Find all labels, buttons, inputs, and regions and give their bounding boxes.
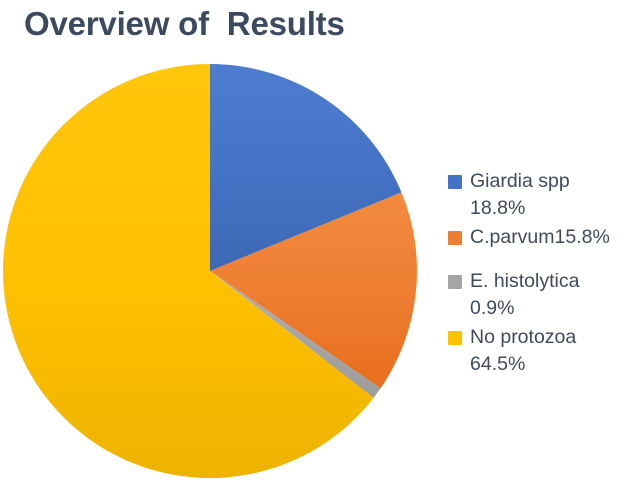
legend-item-label: No protozoa xyxy=(470,324,576,351)
legend-item[interactable]: No protozoa64.5% xyxy=(448,324,634,378)
legend-item-value: 64.5% xyxy=(470,351,634,378)
legend-item[interactable]: C.parvum15.8% xyxy=(448,224,634,251)
legend-item-label: Giardia spp xyxy=(470,168,570,195)
legend-color-swatch-icon xyxy=(448,331,462,345)
legend-item[interactable]: Giardia spp18.8% xyxy=(448,168,634,222)
pie-chart-figure: Overview of Results xyxy=(0,0,634,485)
legend-item-row: No protozoa xyxy=(448,324,634,351)
legend-item-value: 0.9% xyxy=(470,295,634,322)
legend-color-swatch-icon xyxy=(448,175,462,189)
legend-item-value: 18.8% xyxy=(470,195,634,222)
legend-item-row: C.parvum15.8% xyxy=(448,224,634,251)
legend-item-row: Giardia spp xyxy=(448,168,634,195)
legend-color-swatch-icon xyxy=(448,231,462,245)
legend-item-row: E. histolytica xyxy=(448,268,634,295)
legend-color-swatch-icon xyxy=(448,275,462,289)
pie-chart-graphic xyxy=(0,0,440,485)
chart-legend: Giardia spp18.8%C.parvum15.8%E. histolyt… xyxy=(448,168,634,380)
legend-item-label: C.parvum15.8% xyxy=(470,224,610,251)
legend-item[interactable]: E. histolytica0.9% xyxy=(448,268,634,322)
legend-item-label: E. histolytica xyxy=(470,268,579,295)
